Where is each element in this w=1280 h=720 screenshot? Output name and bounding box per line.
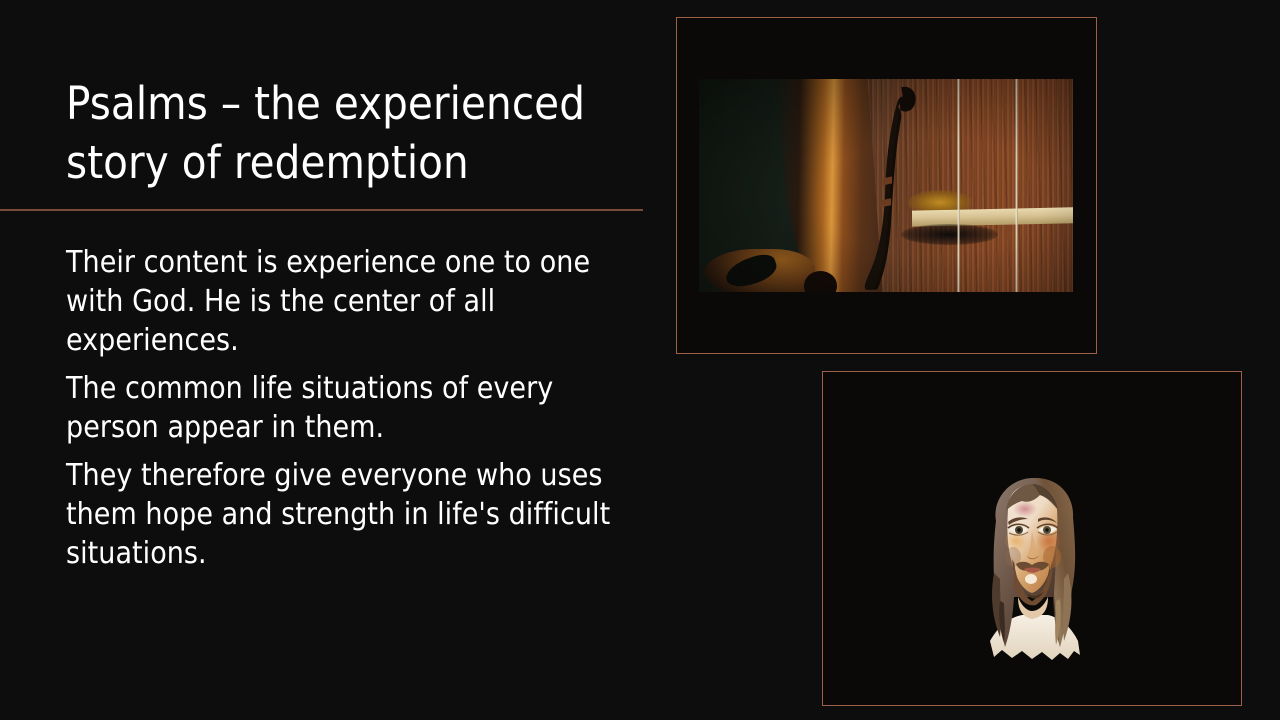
body-text-block: Their content is experience one to one w… bbox=[66, 243, 644, 582]
title-divider-rule bbox=[0, 209, 643, 211]
page-title: Psalms – the experienced story of redemp… bbox=[66, 74, 646, 193]
violin-image-alt: Close-up photograph of a violin body sho… bbox=[677, 18, 678, 19]
violin-image-frame: Close-up photograph of a violin body sho… bbox=[676, 17, 1097, 354]
violin-photo bbox=[699, 79, 1073, 292]
body-paragraph-2: The common life situations of every pers… bbox=[66, 369, 644, 447]
presentation-slide: Psalms – the experienced story of redemp… bbox=[0, 0, 1280, 720]
violin-photo-vignette bbox=[699, 79, 1073, 292]
body-paragraph-1: Their content is experience one to one w… bbox=[66, 243, 644, 360]
portrait-image-alt: Watercolor painting of the face of Jesus… bbox=[823, 372, 824, 373]
jesus-portrait-illustration bbox=[956, 465, 1108, 663]
body-paragraph-3: They therefore give everyone who uses th… bbox=[66, 456, 644, 573]
title-block: Psalms – the experienced story of redemp… bbox=[66, 74, 646, 193]
portrait-image-frame: Watercolor painting of the face of Jesus… bbox=[822, 371, 1242, 706]
